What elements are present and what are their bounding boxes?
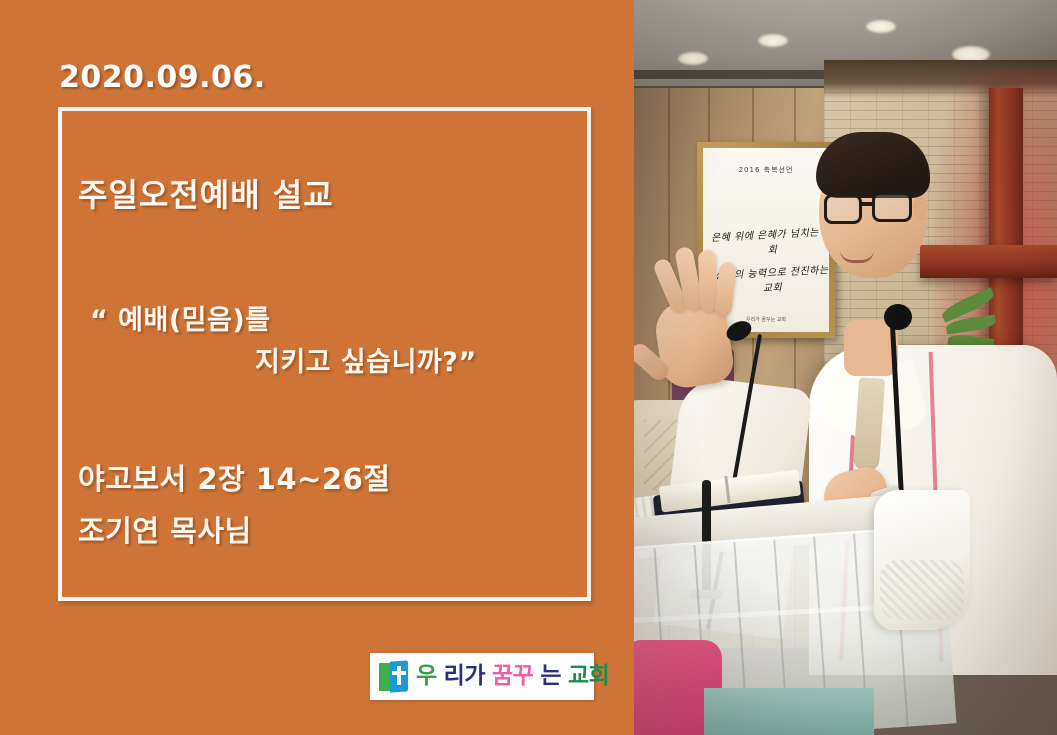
ceiling-light <box>866 20 896 33</box>
ceiling-light <box>758 34 788 47</box>
logo-word-4: 는 <box>540 665 561 688</box>
sanctuary-photo: 2016 축복선언 은혜 위에 은혜가 넘치는 교회 성령의 능력으로 전진하는… <box>634 0 1057 735</box>
sermon-title-line-1: “ 예배(믿음)를 <box>90 300 560 342</box>
sermon-title: “ 예배(믿음)를 지키고 싶습니까?” <box>90 300 560 384</box>
scripture-reference: 야고보서 2장 14~26절 <box>78 456 390 498</box>
eyeglasses-right-lens <box>872 192 912 222</box>
logo-word-2: 리가 <box>444 665 485 688</box>
pastor-hair <box>816 132 930 198</box>
wooden-cross-horizontal <box>920 245 1057 278</box>
logo-word-5: 교회 <box>568 665 609 688</box>
eyeglasses-left-lens <box>824 194 862 224</box>
banner-heading: 2016 축복선언 <box>703 165 829 175</box>
logo-word-1: 우 <box>416 665 437 688</box>
church-logo: 우 리가 꿈꾸 는 교회 <box>370 653 594 700</box>
text-panel: 2020.09.06. 주일오전예배 설교 “ 예배(믿음)를 지키고 싶습니까… <box>0 0 634 735</box>
logo-word-3: 꿈꾸 <box>492 665 533 688</box>
sermon-title-line-2: 지키고 싶습니까?” <box>90 342 560 384</box>
towel-lace-pattern <box>880 560 964 620</box>
eyeglasses-bridge <box>861 202 873 206</box>
preacher-name: 조기연 목사님 <box>78 508 252 550</box>
sermon-date: 2020.09.06. <box>59 60 266 95</box>
church-door-cross-icon <box>379 661 409 692</box>
sermon-announcement-slide: 2020.09.06. 주일오전예배 설교 “ 예배(믿음)를 지키고 싶습니까… <box>0 0 1057 735</box>
pastor-ear <box>913 196 928 220</box>
microphone-head <box>884 304 912 330</box>
banner-line-1: 은혜 위에 은혜가 넘치는 교회 <box>708 223 829 260</box>
cross-horizontal <box>392 671 406 675</box>
cross-vertical <box>397 666 401 685</box>
floor <box>704 688 874 735</box>
service-title: 주일오전예배 설교 <box>78 170 334 216</box>
ceiling-light <box>678 52 708 65</box>
